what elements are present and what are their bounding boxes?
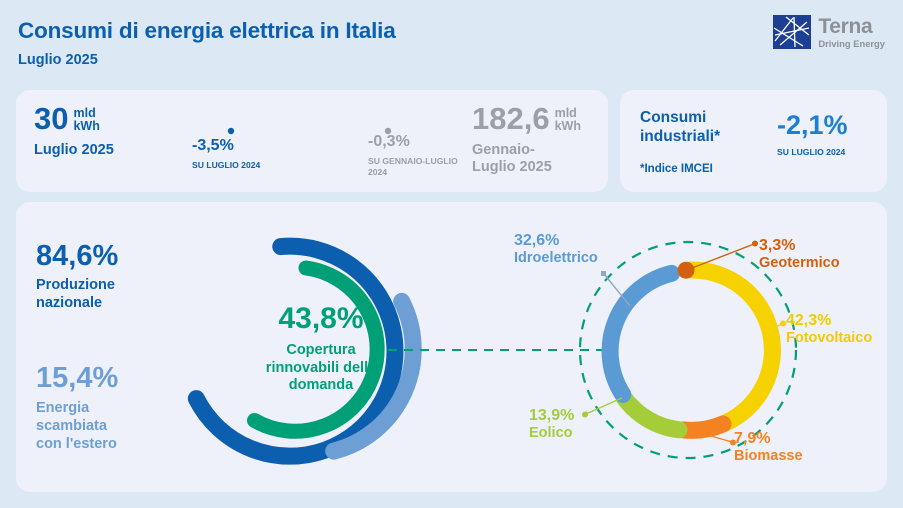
- terna-logo: Terna Driving Energy: [773, 15, 885, 49]
- stat-luglio-value: 30: [34, 104, 68, 133]
- label-fotovoltaico: 42,3% Fotovoltaico: [786, 312, 872, 346]
- industriali-label: Consumi industriali*: [640, 108, 720, 147]
- label-fotovoltaico-name: Fotovoltaico: [786, 330, 872, 347]
- label-geotermico-name: Geotermico: [759, 255, 840, 272]
- stat-luglio-unit-line1: mld: [73, 106, 95, 120]
- arc-eolico: [625, 399, 679, 430]
- header: Consumi di energia elettrica in Italia L…: [0, 0, 903, 88]
- stat-luglio-unit: mld kWh: [73, 107, 99, 133]
- card-main-chart: 84,6% Produzione nazionale 15,4% Energia…: [16, 202, 887, 492]
- arc-fotovoltaico: [691, 270, 773, 423]
- terna-grid-icon: [773, 15, 811, 49]
- label-eolico-pct: 13,9%: [529, 407, 574, 425]
- label-fotovoltaico-pct: 42,3%: [786, 312, 872, 330]
- stat-cumulative-label: Gennaio- Luglio 2025: [472, 142, 581, 175]
- arc-geotermico: [678, 262, 695, 279]
- donut-right: [610, 262, 772, 431]
- leader-eolico: [586, 398, 622, 414]
- label-geotermico-pct: 3,3%: [759, 237, 840, 255]
- stat-luglio-label: Luglio 2025: [34, 142, 114, 159]
- copertura-label-line1: Copertura: [286, 342, 355, 358]
- arc-biomasse: [684, 424, 724, 430]
- industriali-value-note: SU LUGLIO 2024: [777, 147, 845, 157]
- copertura-pct: 43,8%: [231, 302, 411, 336]
- label-idroelettrico-name: Idroelettrico: [514, 250, 598, 267]
- stat-cumulative-delta-block: -0,3% SU GENNAIO-LUGLIO 2024: [368, 133, 478, 177]
- stat-cumulative-delta-note: SU GENNAIO-LUGLIO 2024: [368, 156, 478, 177]
- stat-cumulative-label-line2: Luglio 2025: [472, 159, 552, 175]
- leader-idroelettrico: [604, 274, 630, 306]
- stat-cumulative-delta-note-line1: SU GENNAIO-LUGLIO: [368, 156, 458, 166]
- terna-logo-name: Terna: [818, 16, 885, 37]
- label-biomasse-pct: 7,9%: [734, 430, 803, 448]
- stat-gennaio-luglio-2025: 182,6 mld kWh Gennaio- Luglio 2025: [472, 104, 581, 176]
- stat-cumulative-unit: mld kWh: [555, 107, 581, 133]
- page-title: Consumi di energia elettrica in Italia: [18, 18, 396, 44]
- industriali-label-line1: Consumi: [640, 109, 706, 126]
- industriali-value: -2,1%: [777, 110, 848, 141]
- label-idroelettrico-pct: 32,6%: [514, 232, 598, 250]
- terna-logo-text: Terna Driving Energy: [818, 16, 885, 48]
- stat-cumulative-label-line1: Gennaio-: [472, 142, 535, 158]
- stat-luglio-value-row: 30 mld kWh: [34, 104, 114, 133]
- leader-geotermico-dot: [752, 241, 758, 247]
- card-consumi-industriali: Consumi industriali* *Indice IMCEI -2,1%…: [620, 90, 887, 192]
- stat-luglio-delta-note: SU LUGLIO 2024: [192, 160, 260, 171]
- industriali-label-line2: industriali*: [640, 128, 720, 145]
- terna-logo-tagline: Driving Energy: [818, 39, 885, 48]
- stat-cumulative-unit-line1: mld: [555, 106, 577, 120]
- stat-luglio-delta: -3,5%: [192, 137, 260, 155]
- stat-cumulative-value-row: 182,6 mld kWh: [472, 104, 581, 133]
- label-eolico-name: Eolico: [529, 425, 574, 442]
- copertura-label: Copertura rinnovabili della domanda: [221, 342, 421, 395]
- stat-luglio-delta-block: -3,5% SU LUGLIO 2024: [192, 137, 260, 171]
- arc-idroelettrico: [610, 273, 671, 394]
- stat-cumulative-unit-line2: kWh: [555, 119, 581, 133]
- stat-luglio-2025: 30 mld kWh Luglio 2025: [34, 104, 114, 159]
- leader-biomasse: [704, 434, 732, 442]
- label-geotermico: 3,3% Geotermico: [759, 237, 840, 271]
- page-subtitle: Luglio 2025: [18, 52, 98, 68]
- card-consumi: 30 mld kWh Luglio 2025 -3,5% SU LUGLIO 2…: [16, 90, 608, 192]
- label-eolico: 13,9% Eolico: [529, 407, 574, 441]
- infographic-root: Consumi di energia elettrica in Italia L…: [0, 0, 903, 508]
- copertura-label-line3: domanda: [289, 377, 353, 393]
- label-idroelettrico: 32,6% Idroelettrico: [514, 232, 598, 266]
- stat-luglio-unit-line2: kWh: [73, 119, 99, 133]
- leader-eolico-dot: [582, 412, 588, 418]
- copertura-label-line2: rinnovabili della: [266, 360, 376, 376]
- stat-cumulative-value: 182,6: [472, 104, 550, 133]
- trend-arrow-luglio-icon: [144, 124, 236, 138]
- industriali-footnote: *Indice IMCEI: [640, 163, 713, 175]
- stat-cumulative-delta: -0,3%: [368, 133, 478, 151]
- label-biomasse: 7,9% Biomasse: [734, 430, 803, 464]
- stat-cumulative-delta-note-line2: 2024: [368, 167, 387, 177]
- leader-idroelettrico-dot: [601, 271, 606, 276]
- label-biomasse-name: Biomasse: [734, 448, 803, 465]
